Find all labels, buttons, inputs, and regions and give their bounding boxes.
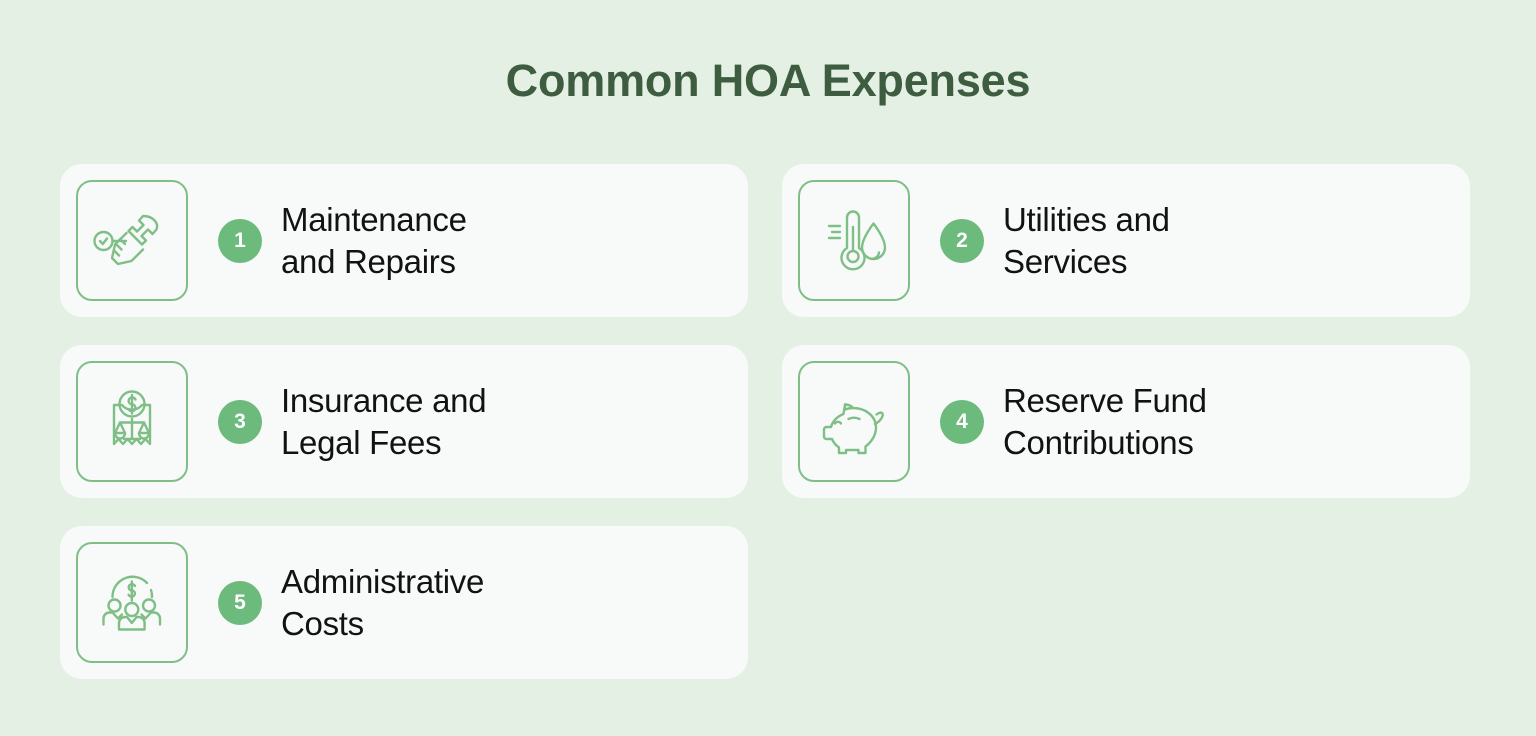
- step-number-badge: 3: [218, 400, 262, 444]
- step-number-badge: 4: [940, 400, 984, 444]
- thermometer-droplet-icon: [815, 202, 893, 280]
- expense-label: Utilities and Services: [1003, 199, 1170, 283]
- expense-label: Insurance and Legal Fees: [281, 380, 486, 464]
- expense-card[interactable]: 2 Utilities and Services: [782, 164, 1470, 317]
- expense-label: Administrative Costs: [281, 561, 484, 645]
- step-number-badge: 1: [218, 219, 262, 263]
- expense-card[interactable]: 5 Administrative Costs: [60, 526, 748, 679]
- expense-label: Reserve Fund Contributions: [1003, 380, 1207, 464]
- icon-frame: [76, 542, 188, 663]
- people-dollar-icon: [93, 564, 171, 642]
- icon-frame: [76, 361, 188, 482]
- receipt-scales-icon: [93, 383, 171, 461]
- step-number-badge: 5: [218, 581, 262, 625]
- piggy-bank-icon: [815, 383, 893, 461]
- page-title: Common HOA Expenses: [0, 56, 1536, 106]
- expense-card[interactable]: 1 Maintenance and Repairs: [60, 164, 748, 317]
- infographic-page: Common HOA Expenses 1: [0, 0, 1536, 736]
- icon-frame: [76, 180, 188, 301]
- step-number-badge: 2: [940, 219, 984, 263]
- expense-label: Maintenance and Repairs: [281, 199, 467, 283]
- hammer-check-icon: [93, 202, 171, 280]
- icon-frame: [798, 361, 910, 482]
- expense-card-grid: 1 Maintenance and Repairs: [60, 164, 1470, 679]
- expense-card[interactable]: 4 Reserve Fund Contributions: [782, 345, 1470, 498]
- expense-card[interactable]: 3 Insurance and Legal Fees: [60, 345, 748, 498]
- icon-frame: [798, 180, 910, 301]
